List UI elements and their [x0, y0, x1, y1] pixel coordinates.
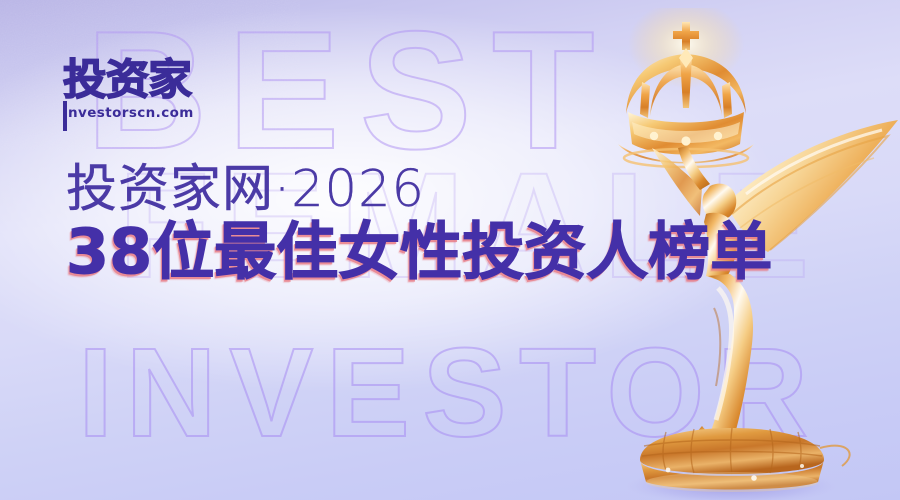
- logo-url-text: investorscn.com: [63, 105, 215, 122]
- logo-mark-text: 投资家: [63, 57, 221, 103]
- trophy-base: [626, 428, 850, 500]
- site-logo[interactable]: 投资家 investorscn.com: [63, 57, 215, 135]
- poster-subtitle: 投资家网·2026: [66, 160, 772, 220]
- poster-title: 38位最佳女性投资人榜单: [66, 216, 772, 288]
- award-poster: BEST FEMALE INVESTOR: [0, 0, 900, 500]
- logo-rule: [63, 101, 67, 131]
- headline-block: 投资家网·2026 38位最佳女性投资人榜单: [66, 160, 772, 288]
